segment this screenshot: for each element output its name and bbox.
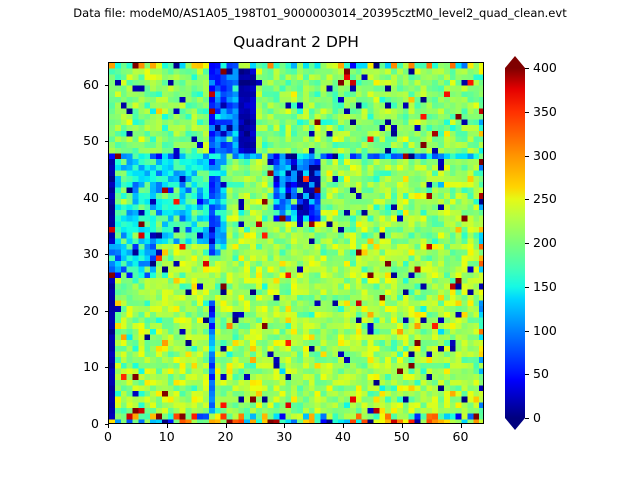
colorbar-tick-mark [525, 374, 529, 375]
colorbar-tick-label: 400 [533, 61, 557, 75]
y-tick-mark [105, 424, 109, 425]
x-tick-mark [461, 424, 462, 428]
colorbar-tick-label: 200 [533, 236, 557, 250]
y-tick-mark [105, 85, 109, 86]
colorbar[interactable]: 050100150200250300350400 [505, 56, 525, 430]
colorbar-tick-mark [525, 287, 529, 288]
y-tick-label: 60 [66, 78, 99, 92]
colorbar-tick-label: 150 [533, 280, 557, 294]
y-tick-mark [105, 311, 109, 312]
colorbar-tick-mark [525, 112, 529, 113]
y-tick-label: 40 [66, 191, 99, 205]
x-tick-label: 30 [276, 430, 292, 444]
colorbar-tick-label: 0 [533, 411, 541, 425]
x-tick-label: 40 [335, 430, 351, 444]
y-tick-mark [105, 254, 109, 255]
x-tick-mark [108, 424, 109, 428]
y-tick-mark [105, 198, 109, 199]
matplotlib-figure: Data file: modeM0/AS1A05_198T01_90000030… [0, 0, 640, 480]
x-tick-mark [226, 424, 227, 428]
colorbar-tick-mark [525, 418, 529, 419]
x-tick-mark [402, 424, 403, 428]
heatmap-axes[interactable] [108, 62, 484, 424]
y-tick-mark [105, 367, 109, 368]
data-file-suptitle: Data file: modeM0/AS1A05_198T01_90000030… [0, 6, 640, 20]
y-tick-label: 0 [66, 417, 99, 431]
y-tick-label: 20 [66, 304, 99, 318]
colorbar-over-range-arrow [505, 56, 525, 68]
colorbar-tick-mark [525, 199, 529, 200]
colorbar-under-range-arrow [505, 418, 525, 430]
x-tick-mark [343, 424, 344, 428]
x-tick-label: 0 [104, 430, 112, 444]
colorbar-tick-mark [525, 68, 529, 69]
colorbar-tick-label: 350 [533, 105, 557, 119]
x-tick-mark [284, 424, 285, 428]
x-tick-mark [167, 424, 168, 428]
y-tick-label: 30 [66, 247, 99, 261]
colorbar-tick-label: 300 [533, 149, 557, 163]
page-title: Quadrant 2 DPH [108, 32, 484, 52]
colorbar-gradient [505, 56, 525, 430]
y-tick-mark [105, 141, 109, 142]
colorbar-tick-mark [525, 331, 529, 332]
dph-heatmap-image[interactable] [109, 63, 484, 424]
x-tick-label: 60 [453, 430, 469, 444]
colorbar-tick-label: 50 [533, 367, 549, 381]
colorbar-body [505, 68, 525, 418]
colorbar-tick-mark [525, 243, 529, 244]
y-tick-label: 50 [66, 134, 99, 148]
colorbar-tick-mark [525, 156, 529, 157]
x-tick-label: 20 [218, 430, 234, 444]
colorbar-tick-label: 250 [533, 192, 557, 206]
x-tick-label: 50 [394, 430, 410, 444]
x-tick-label: 10 [159, 430, 175, 444]
y-tick-label: 10 [66, 360, 99, 374]
colorbar-tick-label: 100 [533, 324, 557, 338]
